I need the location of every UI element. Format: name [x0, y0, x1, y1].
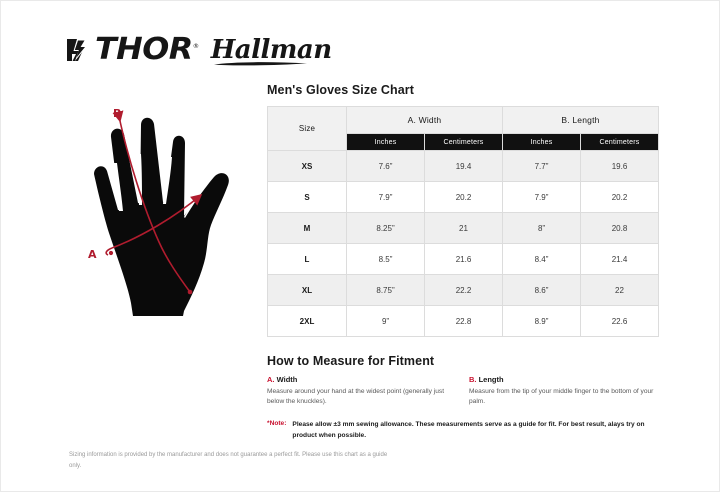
cell-length-in: 8.6” — [503, 275, 581, 306]
thor-wordmark: THOR® — [95, 35, 199, 65]
header-width-inches: Inches — [347, 134, 425, 151]
length-end-dot — [188, 290, 193, 295]
cell-width-in: 8.75” — [347, 275, 425, 306]
footer-disclaimer: Sizing information is provided by the ma… — [69, 450, 399, 471]
cell-size: L — [268, 244, 347, 275]
cell-width-in: 7.6” — [347, 151, 425, 182]
table-row: L 8.5” 21.6 8.4” 21.4 — [268, 244, 659, 275]
cell-length-in: 8” — [503, 213, 581, 244]
header-group-width: A. Width — [347, 107, 503, 134]
cell-size: XS — [268, 151, 347, 182]
howto-width-heading: A. Width — [267, 375, 463, 384]
cell-length-cm: 20.8 — [581, 213, 659, 244]
table-row: XL 8.75” 22.2 8.6” 22 — [268, 275, 659, 306]
header-width-centimeters: Centimeters — [425, 134, 503, 151]
note-text: Please allow ±3 mm sewing allowance. The… — [292, 420, 659, 441]
cell-size: XL — [268, 275, 347, 306]
header-length-centimeters: Centimeters — [581, 134, 659, 151]
cell-width-cm: 22.2 — [425, 275, 503, 306]
cell-width-cm: 22.8 — [425, 306, 503, 337]
howto-length-heading: B. Length — [469, 375, 665, 384]
howto-section-title: How to Measure for Fitment — [267, 354, 434, 368]
size-chart-table: Size A. Width B. Length Inches Centimete… — [267, 106, 659, 337]
cell-size: S — [268, 182, 347, 213]
hand-measurement-diagram: B A — [71, 97, 253, 319]
howto-length-letter: B. — [469, 375, 477, 384]
cell-length-cm: 22.6 — [581, 306, 659, 337]
table-header-row-groups: Size A. Width B. Length — [268, 107, 659, 134]
cell-length-in: 7.9” — [503, 182, 581, 213]
thor-logo: THOR® — [63, 35, 193, 65]
cell-width-in: 7.9” — [347, 182, 425, 213]
howto-width-body: Measure around your hand at the widest p… — [267, 387, 463, 407]
cell-length-in: 8.4” — [503, 244, 581, 275]
cell-length-in: 8.9” — [503, 306, 581, 337]
cell-width-cm: 20.2 — [425, 182, 503, 213]
table-row: XS 7.6” 19.4 7.7” 19.6 — [268, 151, 659, 182]
thor-hammer-icon — [63, 35, 93, 65]
brand-logo-bar: THOR® Hallman — [63, 33, 332, 67]
table-head: Size A. Width B. Length Inches Centimete… — [268, 107, 659, 151]
note-block: *Note: Please allow ±3 mm sewing allowan… — [267, 420, 659, 441]
cell-size: M — [268, 213, 347, 244]
howto-length-name: Length — [479, 375, 504, 384]
cell-width-cm: 21.6 — [425, 244, 503, 275]
diagram-label-a: A — [88, 248, 97, 261]
table-row: 2XL 9” 22.8 8.9” 22.6 — [268, 306, 659, 337]
cell-length-cm: 21.4 — [581, 244, 659, 275]
header-length-inches: Inches — [503, 134, 581, 151]
cell-width-in: 8.25” — [347, 213, 425, 244]
table-row: M 8.25” 21 8” 20.8 — [268, 213, 659, 244]
note-label: *Note: — [267, 420, 286, 441]
table-body: XS 7.6” 19.4 7.7” 19.6 S 7.9” 20.2 7.9” … — [268, 151, 659, 337]
hallman-swash-icon — [213, 61, 309, 66]
hand-silhouette-icon: B A — [71, 97, 253, 319]
cell-width-in: 8.5” — [347, 244, 425, 275]
cell-width-cm: 19.4 — [425, 151, 503, 182]
cell-width-in: 9” — [347, 306, 425, 337]
header-size: Size — [268, 107, 347, 151]
howto-length-body: Measure from the tip of your middle fing… — [469, 387, 665, 407]
header-group-length: B. Length — [503, 107, 659, 134]
table-row: S 7.9” 20.2 7.9” 20.2 — [268, 182, 659, 213]
hallman-logo: Hallman — [211, 37, 332, 63]
cell-length-cm: 19.6 — [581, 151, 659, 182]
howto-width-letter: A. — [267, 375, 275, 384]
width-end-dot — [109, 251, 113, 255]
howto-width-block: A. Width Measure around your hand at the… — [267, 375, 463, 407]
registered-mark: ® — [193, 43, 199, 50]
cell-length-in: 7.7” — [503, 151, 581, 182]
howto-length-block: B. Length Measure from the tip of your m… — [469, 375, 665, 407]
size-chart-page: THOR® Hallman — [0, 0, 720, 492]
diagram-label-b: B — [113, 107, 121, 120]
cell-length-cm: 20.2 — [581, 182, 659, 213]
cell-size: 2XL — [268, 306, 347, 337]
cell-width-cm: 21 — [425, 213, 503, 244]
howto-width-name: Width — [277, 375, 298, 384]
cell-length-cm: 22 — [581, 275, 659, 306]
page-title: Men's Gloves Size Chart — [267, 83, 414, 97]
